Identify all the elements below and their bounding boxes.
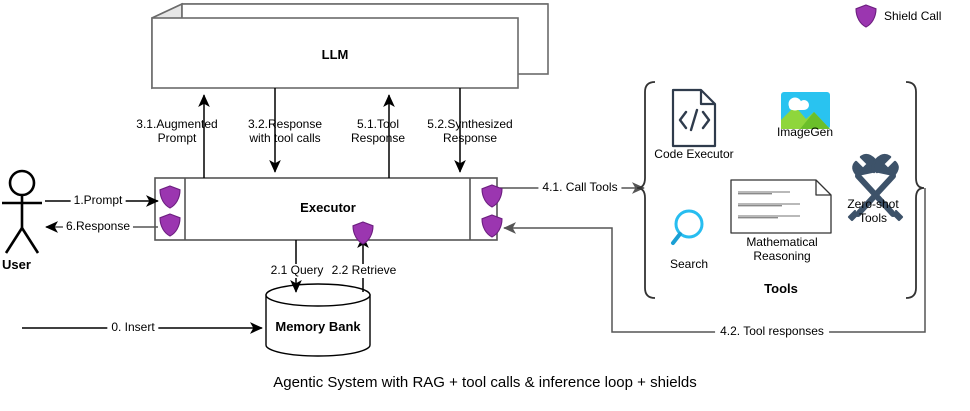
llm-executor-edges <box>204 88 460 178</box>
llm-label: LLM <box>322 48 349 63</box>
edge-label-5-2-line2: Response <box>443 131 497 145</box>
tool-label-code-executor[interactable]: Code Executor <box>654 148 733 162</box>
diagram-caption: Agentic System with RAG + tool calls & i… <box>273 374 697 391</box>
diagram-canvas: LLM Executor Memory Bank User Tools 3.1.… <box>0 0 970 411</box>
tool-label-search[interactable]: Search <box>670 258 708 272</box>
tool-label-mathematical-reasoning[interactable]: Mathematical Reasoning <box>727 236 837 264</box>
tools-group-label: Tools <box>764 282 798 297</box>
edge-label-3-1-line1: 3.1.Augmented <box>136 117 217 131</box>
edge-label-5-1: 5.1.Tool Response <box>351 118 405 146</box>
shield-legend-icon <box>856 5 876 27</box>
llm-node[interactable] <box>152 4 548 88</box>
tool-label-imagegen[interactable]: ImageGen <box>777 126 833 140</box>
diagram-vector-layer <box>0 0 970 411</box>
edge-label-3-2-line1: 3.2.Response <box>248 117 322 131</box>
image-picture-icon <box>781 92 830 129</box>
edge-label-5-1-line2: Response <box>351 131 405 145</box>
edge-label-4-1-call-tools: 4.1. Call Tools <box>538 181 621 195</box>
edge-label-5-2-line1: 5.2.Synthesized <box>427 117 512 131</box>
magnifier-icon <box>673 211 702 243</box>
tool-label-zero-shot-tools[interactable]: Zero-shot Tools <box>837 198 909 226</box>
memory-bank-label: Memory Bank <box>275 320 360 335</box>
edge-label-5-2: 5.2.Synthesized Response <box>427 118 512 146</box>
edge-label-2-2-retrieve: 2.2 Retrieve <box>330 264 399 278</box>
edge-label-3-1-line2: Prompt <box>158 131 197 145</box>
code-document-icon <box>673 90 715 146</box>
edge-label-1-prompt: 1.Prompt <box>71 194 126 208</box>
edge-label-5-1-line1: 5.1.Tool <box>357 117 399 131</box>
shield-legend-label: Shield Call <box>884 10 941 24</box>
edge-label-3-2: 3.2.Response with tool calls <box>248 118 322 146</box>
edge-label-6-response: 6.Response <box>63 220 133 234</box>
edge-label-2-1-query: 2.1 Query <box>269 264 326 278</box>
edge-label-3-2-line2: with tool calls <box>249 131 320 145</box>
edge-label-3-1: 3.1.Augmented Prompt <box>136 118 217 146</box>
insert-edge <box>22 253 262 328</box>
formula-document-icon <box>731 180 831 233</box>
user-label: User <box>2 258 31 273</box>
executor-label: Executor <box>300 201 356 216</box>
edge-label-0-insert: 0. Insert <box>107 321 158 335</box>
edge-label-4-2-tool-responses: 4.2. Tool responses <box>715 325 829 339</box>
user-node[interactable] <box>2 171 42 253</box>
